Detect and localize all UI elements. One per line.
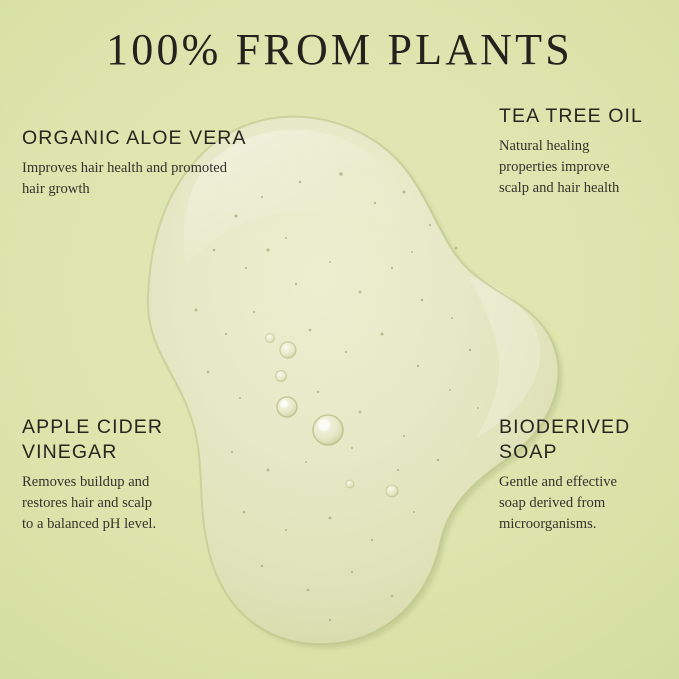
gel-texture-image bbox=[0, 0, 679, 679]
gel-speckles bbox=[195, 172, 480, 621]
feature-body-tea-tree: Natural healing properties improve scalp… bbox=[499, 136, 671, 199]
feature-heading-acv: APPLE CIDER VINEGAR bbox=[22, 415, 252, 465]
product-ingredients-poster: 100% FROM PLANTS bbox=[0, 0, 679, 679]
gel-bubbles bbox=[266, 334, 399, 498]
feature-heading-soap: BIODERIVED SOAP bbox=[499, 415, 679, 465]
gel-blob-svg bbox=[0, 0, 679, 679]
feature-organic-aloe-vera: ORGANIC ALOE VERA Improves hair health a… bbox=[22, 126, 280, 200]
feature-bioderived-soap: BIODERIVED SOAP Gentle and effective soa… bbox=[499, 415, 679, 535]
feature-tea-tree-oil: TEA TREE OIL Natural healing properties … bbox=[499, 104, 671, 199]
feature-body-soap: Gentle and effective soap derived from m… bbox=[499, 472, 679, 535]
feature-heading-tea-tree: TEA TREE OIL bbox=[499, 104, 671, 129]
feature-body-aloe: Improves hair health and promoted hair g… bbox=[22, 158, 280, 200]
feature-body-acv: Removes buildup and restores hair and sc… bbox=[22, 472, 252, 535]
page-title: 100% FROM PLANTS bbox=[0, 24, 679, 75]
feature-apple-cider-vinegar: APPLE CIDER VINEGAR Removes buildup and … bbox=[22, 415, 252, 535]
feature-heading-aloe: ORGANIC ALOE VERA bbox=[22, 126, 280, 151]
